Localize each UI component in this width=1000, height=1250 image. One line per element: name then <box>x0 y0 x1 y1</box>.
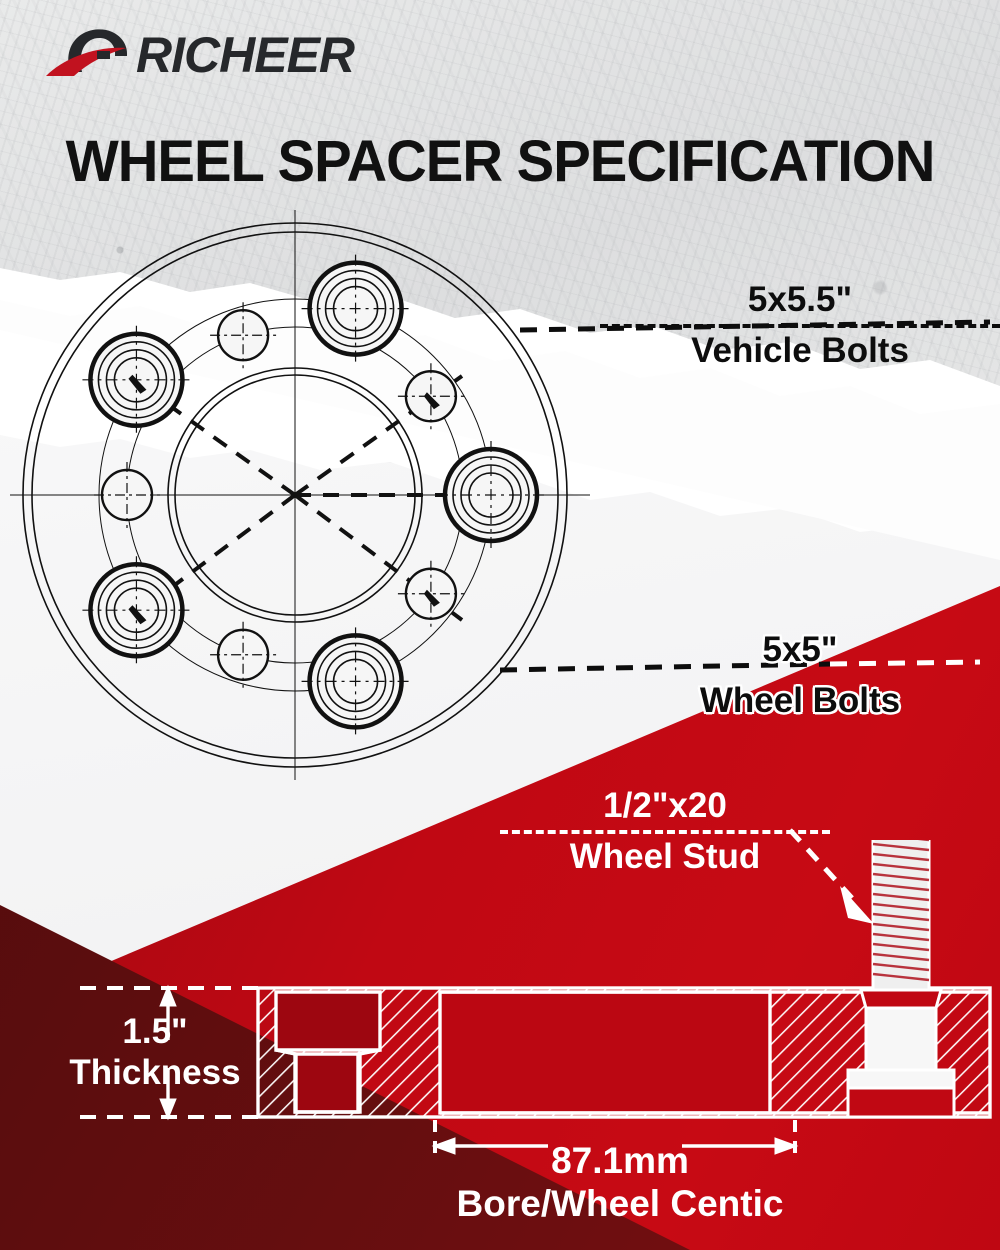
callout-divider <box>600 324 1000 328</box>
callout-value: 5x5" <box>600 630 1000 670</box>
callout-vehicle-bolts: 5x5.5" Vehicle Bolts <box>600 280 1000 372</box>
callout-label: Bore/Wheel Centic <box>420 1182 820 1226</box>
callout-value: 1.5" <box>40 1012 270 1052</box>
callout-label: Wheel Bolts <box>600 680 1000 722</box>
wheel-stud-graphic <box>848 840 954 1117</box>
brand-logo: RICHEER <box>40 22 400 84</box>
r-swoosh-icon <box>46 29 127 76</box>
callout-label: Vehicle Bolts <box>600 330 1000 372</box>
callout-thickness: 1.5" Thickness <box>40 1012 270 1094</box>
callout-wheel-bolts: 5x5" Wheel Bolts <box>600 630 1000 722</box>
callout-value: 1/2"x20 <box>500 786 830 826</box>
wheel-spacer-face-drawing <box>10 210 590 780</box>
callout-label: Thickness <box>40 1052 270 1094</box>
wheel-spacer-cross-section <box>0 840 1000 1160</box>
infographic-page: RICHEER WHEEL SPACER SPECIFICATION <box>0 0 1000 1250</box>
spacer-open-chamber <box>440 992 770 1113</box>
callout-divider <box>500 830 830 834</box>
callout-bore: 87.1mm Bore/Wheel Centic <box>420 1140 820 1226</box>
page-title: WHEEL SPACER SPECIFICATION <box>15 128 985 195</box>
callout-value: 5x5.5" <box>600 280 1000 320</box>
callout-value: 87.1mm <box>420 1140 820 1182</box>
brand-wordmark: RICHEER <box>136 27 355 83</box>
